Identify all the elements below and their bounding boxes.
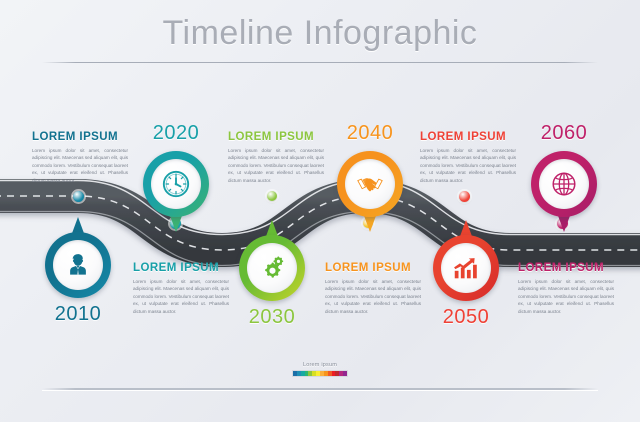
milestone-year-2040: 2040: [310, 122, 430, 145]
description-body-2030: Lorem ipsum dolor sit amet, consectetur …: [228, 147, 324, 184]
road-dot-5: [459, 191, 470, 202]
description-block-2050: LOREM IPSUMLorem ipsum dolor sit amet, c…: [420, 131, 516, 184]
page-title: Timeline Infographic: [0, 14, 640, 53]
infographic-canvas: Timeline Infographic 2010202020302040205…: [0, 0, 640, 422]
handshake-icon: [345, 159, 395, 209]
description-block-2060: LOREM IPSUMLorem ipsum dolor sit amet, c…: [518, 262, 614, 315]
title-divider: [42, 62, 598, 63]
description-body-2020: Lorem ipsum dolor sit amet, consectetur …: [133, 278, 229, 315]
description-heading-2010: LOREM IPSUM: [32, 131, 128, 143]
gears-icon: [247, 243, 297, 293]
description-heading-2020: LOREM IPSUM: [133, 262, 229, 274]
milestone-ring-2020[interactable]: [143, 151, 209, 217]
milestone-ring-2040[interactable]: [337, 151, 403, 217]
growth-chart-icon: [441, 243, 491, 293]
color-swatch-strip: [292, 370, 348, 377]
description-body-2060: Lorem ipsum dolor sit amet, consectetur …: [518, 278, 614, 315]
description-block-2010: LOREM IPSUMLorem ipsum dolor sit amet, c…: [32, 131, 128, 184]
footer-divider: [42, 388, 598, 390]
description-heading-2030: LOREM IPSUM: [228, 131, 324, 143]
clock-icon: [151, 159, 201, 209]
globe-icon: [539, 159, 589, 209]
road-dot-3: [267, 191, 277, 201]
description-body-2050: Lorem ipsum dolor sit amet, consectetur …: [420, 147, 516, 184]
milestone-ring-2010[interactable]: [45, 232, 111, 298]
description-block-2040: LOREM IPSUMLorem ipsum dolor sit amet, c…: [325, 262, 421, 315]
milestone-year-2050: 2050: [406, 306, 526, 329]
description-heading-2040: LOREM IPSUM: [325, 262, 421, 274]
businessman-icon: [53, 240, 103, 290]
road-dot-1: [73, 191, 84, 202]
description-heading-2050: LOREM IPSUM: [420, 131, 516, 143]
legend-label: Lorem ipsum: [292, 362, 348, 368]
milestone-year-2060: 2060: [504, 122, 624, 145]
milestone-year-2010: 2010: [18, 303, 138, 326]
description-heading-2060: LOREM IPSUM: [518, 262, 614, 274]
swatch-cell-14: [343, 371, 347, 376]
description-body-2010: Lorem ipsum dolor sit amet, consectetur …: [32, 147, 128, 184]
milestone-year-2030: 2030: [212, 306, 332, 329]
milestone-year-2020: 2020: [116, 122, 236, 145]
description-body-2040: Lorem ipsum dolor sit amet, consectetur …: [325, 278, 421, 315]
description-block-2030: LOREM IPSUMLorem ipsum dolor sit amet, c…: [228, 131, 324, 184]
description-block-2020: LOREM IPSUMLorem ipsum dolor sit amet, c…: [133, 262, 229, 315]
legend-swatch: Lorem ipsum: [292, 362, 348, 377]
milestone-ring-2060[interactable]: [531, 151, 597, 217]
milestone-ring-2030[interactable]: [239, 235, 305, 301]
milestone-ring-2050[interactable]: [433, 235, 499, 301]
